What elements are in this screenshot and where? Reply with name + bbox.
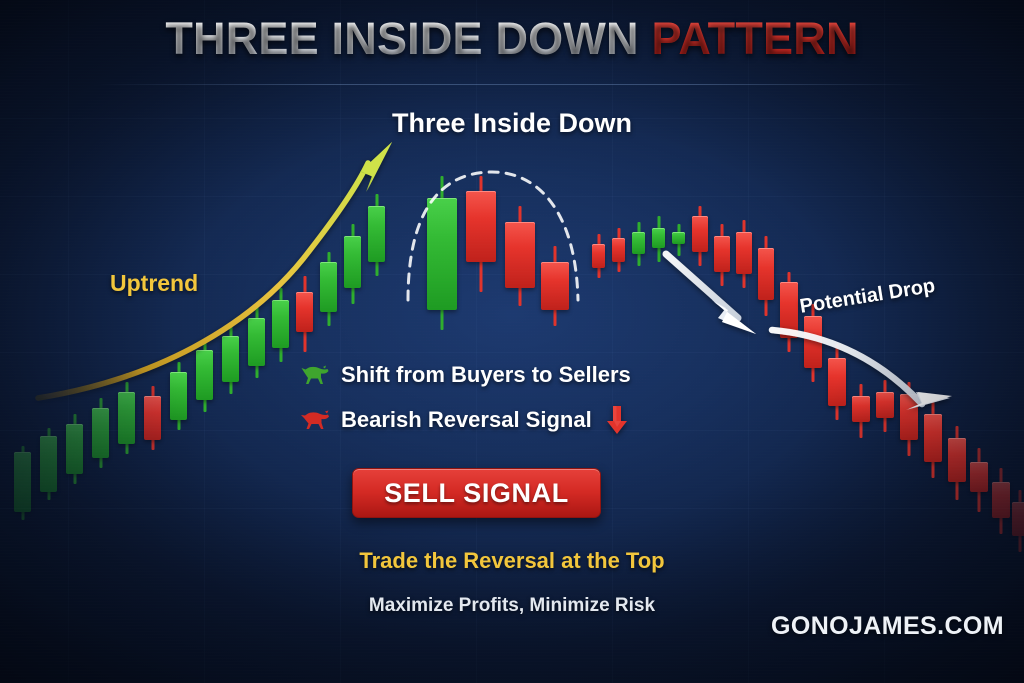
candle-body [592, 244, 605, 268]
candlestick-up [222, 326, 239, 394]
candlestick-down [948, 426, 966, 500]
uptrend-label: Uptrend [110, 270, 198, 297]
candle-body [924, 414, 942, 462]
candlestick-down [758, 236, 774, 316]
bull-icon [300, 363, 330, 387]
candlestick-down [144, 386, 161, 450]
candle-body [900, 394, 918, 440]
candlestick-down [900, 382, 918, 456]
candlestick-down [1012, 490, 1024, 552]
candle-body [320, 262, 337, 312]
candle-body [248, 318, 265, 366]
legend-item-buyers-to-sellers: Shift from Buyers to Sellers [300, 362, 631, 388]
candlestick-down [592, 234, 605, 278]
candle-body [368, 206, 385, 262]
candle-body [652, 228, 665, 248]
candle-body [970, 462, 988, 492]
candlestick-down [828, 344, 846, 420]
gridline-vertical [340, 0, 341, 683]
candlestick-up [92, 398, 109, 468]
candlestick-up [272, 288, 289, 362]
candlestick-up [672, 224, 685, 256]
candlestick-up [66, 414, 83, 484]
gridline-vertical [884, 0, 885, 683]
candle-body [14, 452, 31, 512]
candle-body [92, 408, 109, 458]
candlestick-up [320, 252, 337, 326]
candle-harami-candle [466, 176, 496, 292]
tagline: Trade the Reversal at the Top [0, 548, 1024, 574]
candle-body [758, 248, 774, 300]
candle-bullish-mother-candle [427, 176, 457, 330]
legend-item-bearish-reversal: Bearish Reversal Signal [300, 405, 629, 435]
pattern-label: Three Inside Down [0, 108, 1024, 139]
candlestick-up [344, 224, 361, 304]
title-red-part: PATTERN [651, 13, 858, 64]
candlestick-down [876, 380, 894, 432]
potential-drop-label: Potential Drop [798, 275, 937, 319]
candle-body [780, 282, 798, 338]
candle-body [40, 436, 57, 492]
candle-body [466, 191, 496, 262]
candle-body [736, 232, 752, 274]
chart-overlay-graphics [0, 0, 1024, 683]
candlestick-up [632, 222, 645, 266]
legend-item-label: Shift from Buyers to Sellers [341, 362, 631, 388]
candlestick-up [14, 446, 31, 520]
page-title: THREE INSIDE DOWN PATTERN [0, 16, 1024, 61]
candlestick-down [612, 228, 625, 272]
candle-body [876, 392, 894, 418]
candlestick-down [736, 220, 752, 288]
candlestick-down [541, 246, 569, 326]
sell-signal-button[interactable]: SELL SIGNAL [352, 468, 601, 518]
gridline-vertical [476, 0, 477, 683]
candle-body [612, 238, 625, 262]
candlestick-up [196, 340, 213, 412]
candlestick-down [296, 276, 313, 352]
candle-body [344, 236, 361, 288]
candlestick-up [368, 194, 385, 276]
legend-item-label: Bearish Reversal Signal [341, 407, 592, 433]
candle-body [828, 358, 846, 406]
candlestick-up [118, 382, 135, 454]
candle-body [852, 396, 870, 422]
candle-body [170, 372, 187, 420]
bear-icon [300, 408, 330, 432]
candlestick-up [40, 428, 57, 500]
candlestick-up [248, 306, 265, 378]
candle-body [672, 232, 685, 244]
title-divider [96, 84, 928, 85]
gridline-vertical [748, 0, 749, 683]
candlestick-up [170, 362, 187, 430]
vignette-overlay [0, 0, 1024, 683]
candle-body [541, 262, 569, 310]
gridline-vertical [612, 0, 613, 683]
candle-body [804, 316, 822, 368]
candle-body [692, 216, 708, 252]
sell-signal-label: SELL SIGNAL [384, 478, 569, 509]
candlestick-down [714, 224, 730, 286]
down-arrow-icon [605, 405, 629, 435]
candle-body [144, 396, 161, 440]
candlestick-down [780, 272, 798, 352]
candle-confirmation-candle [505, 206, 535, 306]
gridline-horizontal [0, 352, 1024, 353]
candlestick-down [692, 206, 708, 266]
gridline-vertical [68, 0, 69, 683]
candlestick-down [992, 468, 1010, 534]
candle-body [714, 236, 730, 272]
candlestick-down [852, 384, 870, 438]
candle-body [272, 300, 289, 348]
candlestick-down [924, 402, 942, 478]
watermark-url: GONOJAMES.COM [771, 612, 1004, 641]
candlestick-up [652, 216, 665, 262]
candle-body [66, 424, 83, 474]
texture-overlay [0, 0, 1024, 683]
candle-body [992, 482, 1010, 518]
candle-body [118, 392, 135, 444]
uptrend-arrow-icon [38, 142, 392, 398]
candle-body [1012, 502, 1024, 536]
chart-gridlines [0, 0, 1024, 683]
title-white-part: THREE INSIDE DOWN [165, 13, 638, 64]
candle-body [632, 232, 645, 254]
candle-body [196, 350, 213, 400]
infographic-canvas: THREE INSIDE DOWN PATTERN Three Inside D… [0, 0, 1024, 683]
gridline-horizontal [0, 196, 1024, 197]
candle-body [505, 222, 535, 288]
candlestick-down [970, 448, 988, 512]
candle-body [222, 336, 239, 382]
candle-body [427, 198, 457, 310]
candle-body [296, 292, 313, 332]
candle-body [948, 438, 966, 482]
